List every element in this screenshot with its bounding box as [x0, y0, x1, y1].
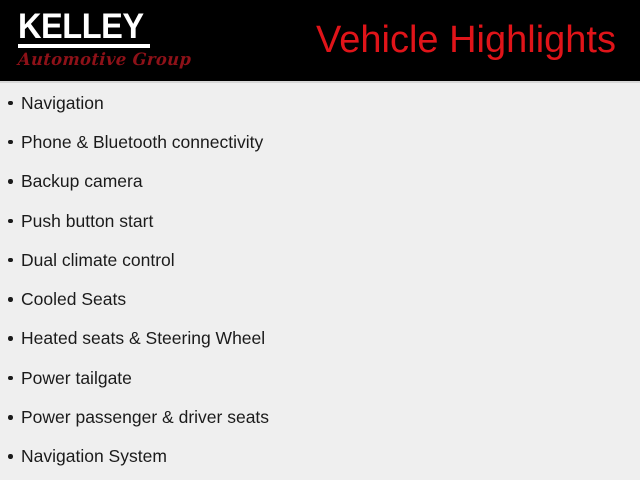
list-item-label: Power tailgate — [21, 367, 132, 389]
bullet-icon — [8, 258, 13, 263]
list-item: Cooled Seats — [0, 279, 640, 318]
list-item: Push button start — [0, 201, 640, 240]
list-item-label: Push button start — [21, 210, 153, 232]
list-item: Navigation — [0, 83, 640, 122]
bullet-icon — [8, 376, 13, 381]
list-item-label: Power passenger & driver seats — [21, 406, 269, 428]
list-item-label: Backup camera — [21, 170, 143, 192]
bullet-icon — [8, 140, 13, 145]
list-item: Phone & Bluetooth connectivity — [0, 122, 640, 161]
list-item: Navigation System — [0, 437, 640, 476]
bullet-icon — [8, 297, 13, 302]
list-item: Dual climate control — [0, 240, 640, 279]
list-item-label: Navigation — [21, 92, 104, 114]
vehicle-highlights-page: KELLEY Automotive Group Vehicle Highligh… — [0, 0, 640, 480]
list-item-label: Phone & Bluetooth connectivity — [21, 131, 263, 153]
list-item: Heated seats & Steering Wheel — [0, 319, 640, 358]
vehicle-highlights-list: Navigation Phone & Bluetooth connectivit… — [0, 83, 640, 476]
bullet-icon — [8, 179, 13, 184]
list-item: Power tailgate — [0, 358, 640, 397]
bullet-icon — [8, 454, 13, 459]
list-item-label: Cooled Seats — [21, 288, 126, 310]
bullet-icon — [8, 336, 13, 341]
bullet-icon — [8, 101, 13, 106]
list-item-label: Navigation System — [21, 445, 167, 467]
list-item: Power passenger & driver seats — [0, 397, 640, 436]
page-header: KELLEY Automotive Group Vehicle Highligh… — [0, 0, 640, 81]
list-item: Backup camera — [0, 162, 640, 201]
logo-tagline: Automotive Group — [17, 50, 147, 70]
bullet-icon — [8, 415, 13, 420]
header-inner: KELLEY Automotive Group Vehicle Highligh… — [0, 0, 640, 81]
logo-wordmark: KELLEY — [18, 11, 143, 42]
list-item-label: Heated seats & Steering Wheel — [21, 327, 265, 349]
bullet-icon — [8, 219, 13, 224]
list-item-label: Dual climate control — [21, 249, 175, 271]
page-title: Vehicle Highlights — [316, 16, 620, 64]
kelley-automotive-group-logo: KELLEY Automotive Group — [18, 11, 152, 70]
